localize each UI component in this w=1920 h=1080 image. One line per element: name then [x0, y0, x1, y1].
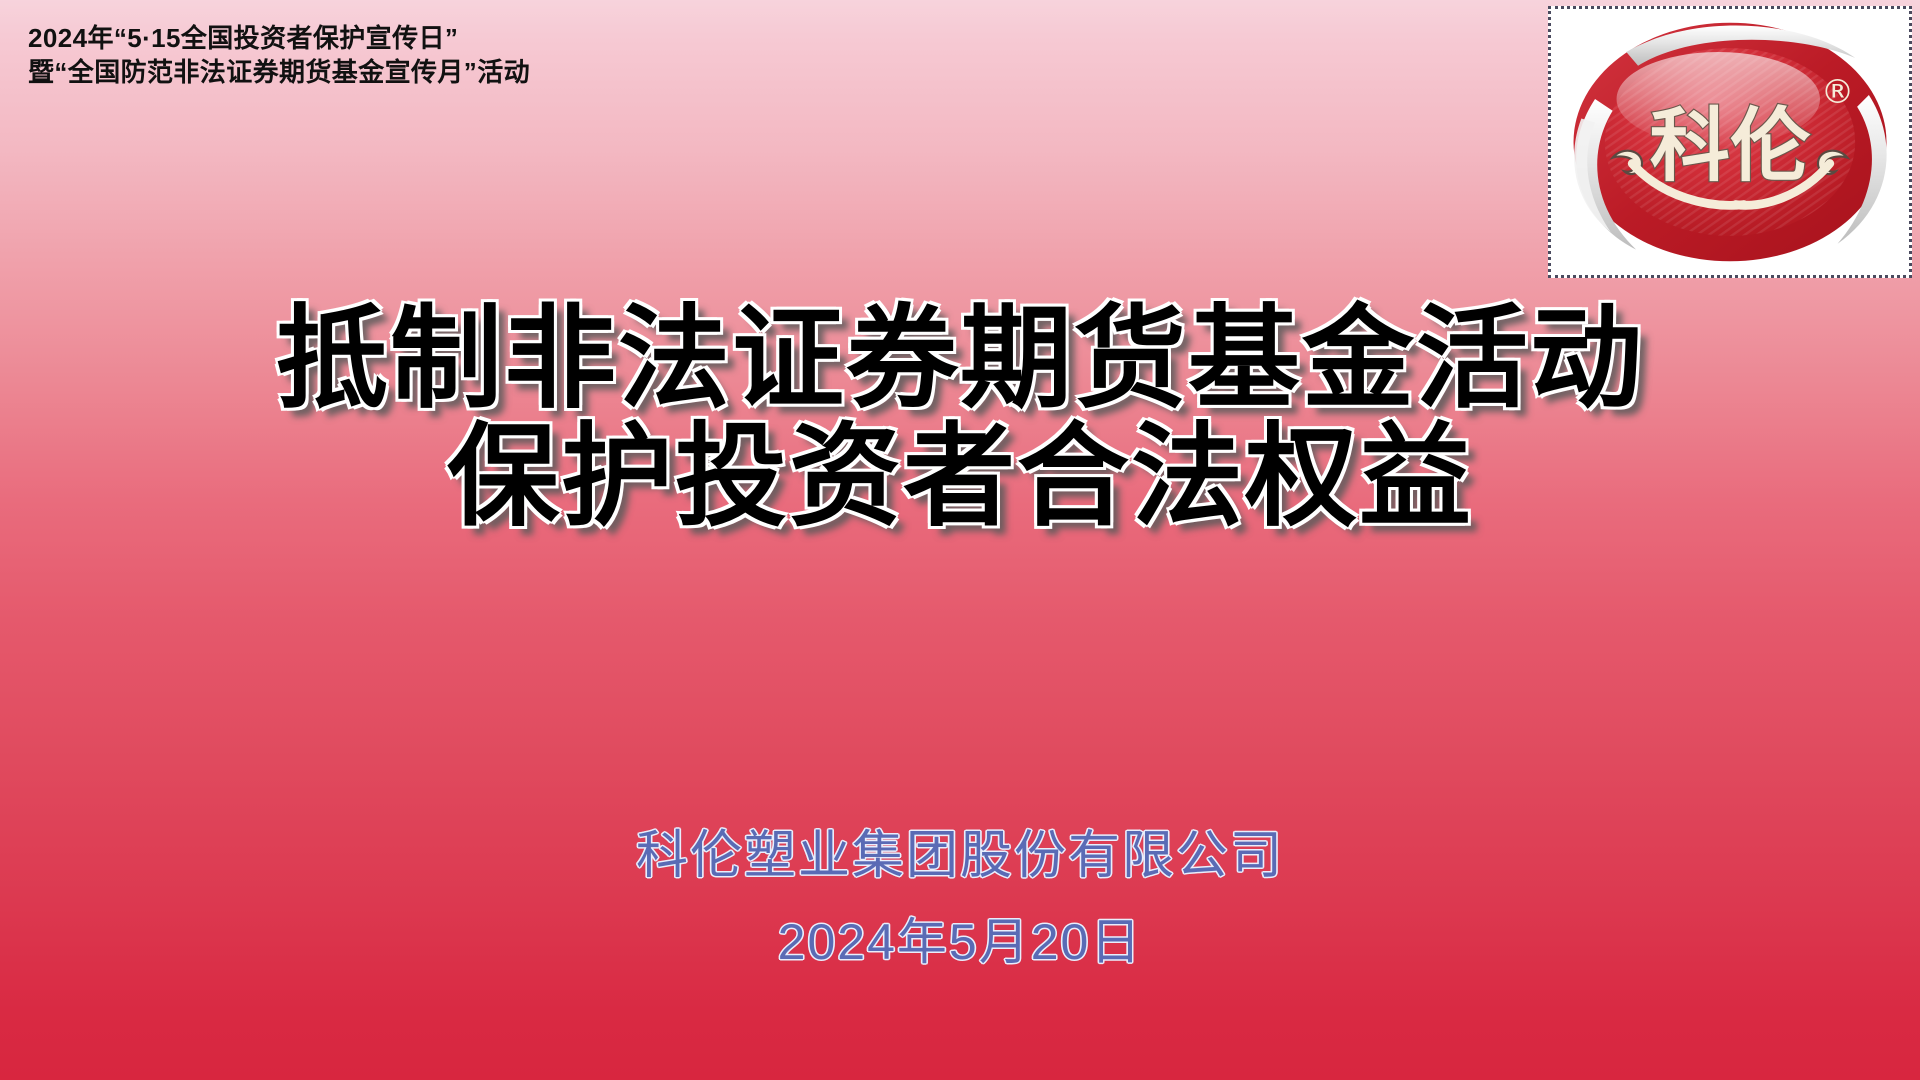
slogan-block: 抵制非法证券期货基金活动 保护投资者合法权益: [0, 300, 1920, 536]
logo-wordmark: 科伦: [1650, 99, 1811, 192]
campaign-header-line-1: 2024年“5·15全国投资者保护宣传日”: [28, 22, 530, 56]
footer-block: 科伦塑业集团股份有限公司 2024年5月20日: [0, 820, 1920, 992]
campaign-header: 2024年“5·15全国投资者保护宣传日” 暨“全国防范非法证券期货基金宣传月”…: [28, 22, 530, 90]
slogan-line-2: 保护投资者合法权益: [0, 418, 1920, 536]
slogan-line-1: 抵制非法证券期货基金活动: [0, 300, 1920, 418]
presentation-slide: 2024年“5·15全国投资者保护宣传日” 暨“全国防范非法证券期货基金宣传月”…: [0, 0, 1920, 1080]
registered-trademark-icon: ®: [1821, 72, 1854, 111]
company-logo-box: 科伦 ®: [1548, 6, 1912, 278]
presentation-date: 2024年5月20日: [0, 892, 1920, 992]
kelun-logo-icon: 科伦 ®: [1551, 9, 1909, 275]
company-name: 科伦塑业集团股份有限公司: [0, 820, 1920, 892]
campaign-header-line-2: 暨“全国防范非法证券期货基金宣传月”活动: [28, 56, 530, 90]
